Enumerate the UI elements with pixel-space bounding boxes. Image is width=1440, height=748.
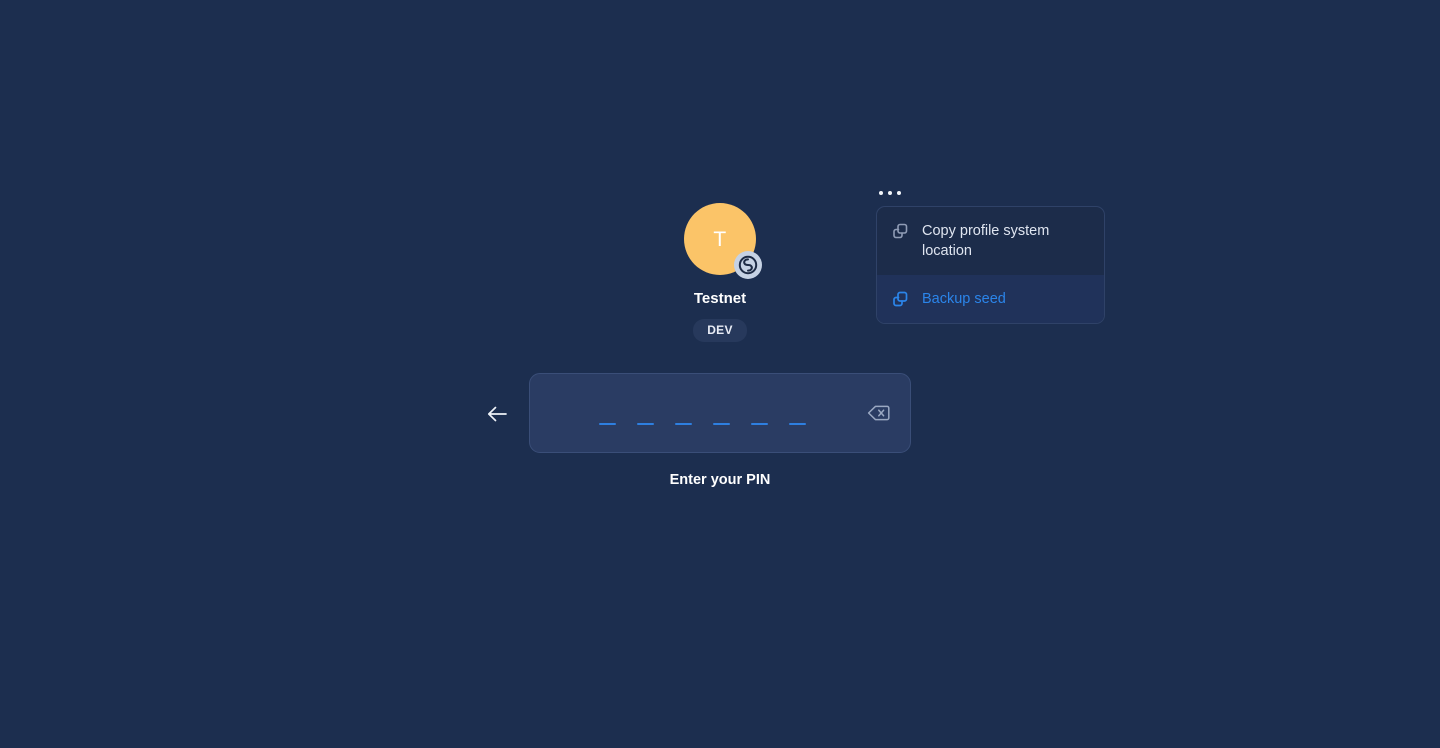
menu-item-label: Copy profile system location [922, 221, 1088, 261]
pin-caption: Enter your PIN [0, 471, 1440, 489]
pin-dash [599, 423, 616, 425]
avatar[interactable]: T [684, 203, 756, 275]
backspace-icon[interactable] [866, 402, 892, 424]
status-badge: DEV [693, 319, 747, 342]
pin-input[interactable] [529, 373, 911, 453]
menu-item-label: Backup seed [922, 289, 1006, 309]
menu-item-backup-seed[interactable]: Backup seed [877, 275, 1104, 323]
sync-swirl-icon [734, 251, 762, 279]
ellipsis-icon[interactable] [879, 185, 911, 201]
pin-dash [713, 423, 730, 425]
pin-dash [789, 423, 806, 425]
ellipsis-dot [897, 191, 901, 195]
profile-name: Testnet [694, 290, 746, 308]
profile-context-menu: Copy profile system location Backup seed [876, 206, 1105, 324]
copy-icon [891, 290, 909, 308]
copy-icon [891, 222, 909, 240]
pin-dash [751, 423, 768, 425]
pin-input-row [0, 373, 1440, 453]
pin-entry-screen: { "profile": { "avatar_letter": "T", "av… [0, 0, 1440, 748]
pin-dash [637, 423, 654, 425]
menu-item-copy-profile-system-location[interactable]: Copy profile system location [877, 207, 1104, 275]
ellipsis-dot [888, 191, 892, 195]
pin-placeholder-dashes [599, 423, 806, 425]
ellipsis-dot [879, 191, 883, 195]
pin-dash [675, 423, 692, 425]
profile-block: T Testnet DEV [0, 203, 1440, 342]
